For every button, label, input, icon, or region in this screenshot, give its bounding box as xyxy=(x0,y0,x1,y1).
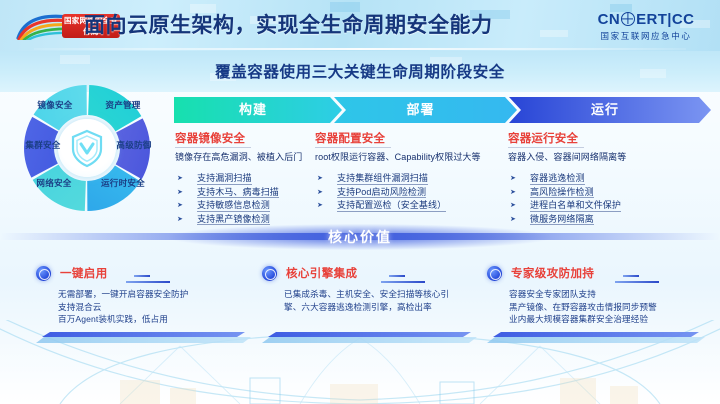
column-2-heading: 容器配置安全 xyxy=(315,130,497,146)
column-1-list: 支持漏洞扫描 支持木马、病毒扫描 支持敏感信息检测 支持黑产镜像检测 xyxy=(175,172,313,226)
list-item: 容器逃逸检测 xyxy=(508,172,708,186)
platform-base-2 xyxy=(262,332,477,344)
value-card-1-title: 一键启用 xyxy=(60,265,108,281)
phase-arrow-build[interactable]: 构建 xyxy=(174,97,342,123)
value-card-1-line-0: 无需部署，一键开启容器安全防护 xyxy=(58,288,188,301)
wheel-label-image: 镜像安全 xyxy=(35,100,75,111)
globe-icon xyxy=(621,12,635,26)
column-1-item-0: 支持漏洞扫描 xyxy=(197,173,252,185)
security-capability-wheel: 资产管理 高级防御 运行时安全 网络安全 集群安全 镜像安全 xyxy=(17,78,157,218)
value-card-2-line-0: 已集成杀毒、主机安全、安全扫描等核心引 xyxy=(284,288,449,301)
list-item: 支持漏洞扫描 xyxy=(175,172,313,186)
list-item: 高风险操作检测 xyxy=(508,186,708,200)
value-card-1-line-1: 支持混合云 xyxy=(58,301,188,314)
column-config-security: 容器配置安全 root权限运行容器、Capability权限过大等 支持集群组件… xyxy=(315,130,497,213)
wheel-label-advanced-text: 高级防御 xyxy=(116,140,151,150)
wheel-label-advanced: 高级防御 xyxy=(115,140,153,151)
phase-arrow-build-label: 构建 xyxy=(174,97,342,123)
header-underline xyxy=(34,48,686,50)
column-runtime-security: 容器运行安全 容器入侵、容器间网络隔离等 容器逃逸检测 高风险操作检测 进程白名… xyxy=(508,130,708,226)
column-3-item-0: 容器逃逸检测 xyxy=(530,173,585,185)
bullet-circle-icon xyxy=(487,266,502,281)
column-2-list: 支持集群组件漏洞扫描 支持Pod启动风险检测 支持配置巡检（安全基线） xyxy=(315,172,497,213)
column-2-heading-rule xyxy=(315,147,391,148)
column-3-heading: 容器运行安全 xyxy=(508,130,708,146)
list-item: 支持配置巡检（安全基线） xyxy=(315,199,497,213)
page-title: 面向云原生架构，实现全生命周期安全能力 xyxy=(84,9,493,43)
platform-base-3 xyxy=(487,332,705,344)
value-card-3-title: 专家级攻防加持 xyxy=(511,265,594,281)
wheel-label-asset: 资产管理 xyxy=(103,100,143,111)
list-item: 支持敏感信息检测 xyxy=(175,199,313,213)
column-3-subtext: 容器入侵、容器间网络隔离等 xyxy=(508,151,708,163)
bullet-circle-icon xyxy=(262,266,277,281)
column-image-security: 容器镜像安全 镜像存在高危漏洞、被植入后门 支持漏洞扫描 支持木马、病毒扫描 支… xyxy=(175,130,313,226)
value-card-2-line-1: 擎、六大容器逃逸检测引擎，高检出率 xyxy=(284,301,449,314)
platform-base-1 xyxy=(36,332,251,344)
value-card-2-dashes xyxy=(381,275,427,284)
column-3-item-1: 高风险操作检测 xyxy=(530,187,594,199)
cncert-wordmark: CNERT|CC xyxy=(584,10,708,28)
column-3-item-2: 进程白名单和文件保护 xyxy=(530,200,621,212)
wheel-label-asset-text: 资产管理 xyxy=(105,100,140,110)
column-1-heading: 容器镜像安全 xyxy=(175,130,313,146)
slide-canvas: 国家网络安全宣传周 面向云原生架构，实现全生命周期安全能力 CNERT|CC 国… xyxy=(0,0,720,404)
list-item: 支持Pod启动风险检测 xyxy=(315,186,497,200)
phase-arrow-run[interactable]: 运行 xyxy=(509,97,711,123)
lifecycle-phase-arrows: 构建 部署 运行 xyxy=(174,97,711,123)
value-card-3-line-1: 黑产镜像、在野容器攻击情报同步预警 xyxy=(509,301,657,314)
core-value-label: 核心价值 xyxy=(0,227,720,247)
cncert-sub: 国家互联网应急中心 xyxy=(584,30,708,42)
value-card-3-dashes xyxy=(615,275,661,284)
bottom-decoration xyxy=(0,320,720,404)
bullet-circle-icon xyxy=(36,266,51,281)
value-card-1-dashes xyxy=(126,275,172,284)
wheel-center xyxy=(58,119,116,177)
column-2-item-2: 支持配置巡检（安全基线） xyxy=(337,200,446,212)
phase-arrow-run-label: 运行 xyxy=(509,97,711,123)
wheel-label-network: 网络安全 xyxy=(33,178,75,189)
column-3-heading-rule xyxy=(508,147,584,148)
list-item: 支持集群组件漏洞扫描 xyxy=(315,172,497,186)
phase-arrow-deploy-label: 部署 xyxy=(334,97,517,123)
column-1-item-1: 支持木马、病毒扫描 xyxy=(197,187,279,199)
shield-icon xyxy=(58,119,116,177)
column-1-item-2: 支持敏感信息检测 xyxy=(197,200,270,212)
column-1-subtext: 镜像存在高危漏洞、被植入后门 xyxy=(175,151,313,163)
list-item: 进程白名单和文件保护 xyxy=(508,199,708,213)
column-2-subtext: root权限运行容器、Capability权限过大等 xyxy=(315,151,497,163)
wheel-label-network-text: 网络安全 xyxy=(36,178,71,188)
value-card-3-line-0: 容器安全专家团队支持 xyxy=(509,288,657,301)
wheel-label-image-text: 镜像安全 xyxy=(37,100,72,110)
column-2-item-0: 支持集群组件漏洞扫描 xyxy=(337,173,428,185)
phase-arrow-deploy[interactable]: 部署 xyxy=(334,97,517,123)
column-2-item-1: 支持Pod启动风险检测 xyxy=(337,187,426,199)
wheel-label-cluster-text: 集群安全 xyxy=(25,140,60,150)
cncert-logo: CNERT|CC 国家互联网应急中心 xyxy=(584,10,708,42)
column-3-list: 容器逃逸检测 高风险操作检测 进程白名单和文件保护 微服务网络隔离 xyxy=(508,172,708,226)
column-1-heading-rule xyxy=(175,147,251,148)
value-card-2-body: 已集成杀毒、主机安全、安全扫描等核心引 擎、六大容器逃逸检测引擎，高检出率 xyxy=(284,288,449,313)
value-card-2-title: 核心引擎集成 xyxy=(286,265,357,281)
wheel-label-runtime: 运行时安全 xyxy=(101,178,145,189)
list-item: 支持木马、病毒扫描 xyxy=(175,186,313,200)
wheel-label-runtime-text: 运行时安全 xyxy=(101,178,145,188)
wheel-label-cluster: 集群安全 xyxy=(23,140,63,151)
core-value-band: 核心价值 xyxy=(0,224,720,250)
